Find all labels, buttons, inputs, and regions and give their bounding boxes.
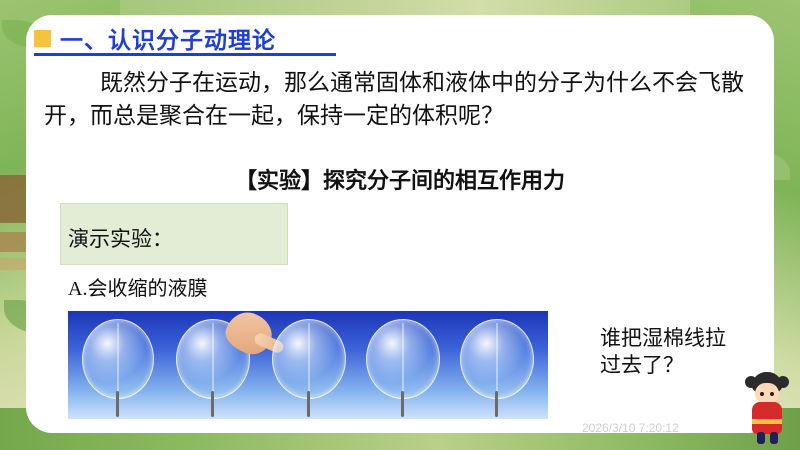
background-top-strip — [0, 0, 800, 16]
liquid-film-image — [68, 311, 548, 419]
mascot-leg-left — [757, 432, 765, 444]
bubble-frame-4 — [366, 319, 440, 399]
bubble-frame-3 — [272, 319, 346, 399]
body-paragraph: 既然分子在运动，那么通常固体和液体中的分子为什么不会飞散开，而总是聚合在一起，保… — [44, 67, 756, 132]
mascot-eye-left — [760, 392, 764, 396]
mascot-character — [744, 372, 792, 446]
heading-text: 一、认识分子动理论 — [60, 21, 276, 55]
side-question-text: 谁把湿棉线拉过去了？ — [600, 325, 740, 379]
bubble-handle-3 — [307, 391, 310, 417]
mascot-belt — [752, 419, 782, 424]
bubble-handle-1 — [116, 391, 119, 417]
mascot-face — [755, 383, 779, 404]
mascot-eye-right — [770, 392, 774, 396]
timestamp-watermark: 2026/3/10 7:20:12 — [582, 421, 679, 435]
mascot-leg-right — [770, 432, 778, 444]
bubble-handle-4 — [401, 391, 404, 417]
bubble-frame-5 — [460, 319, 534, 399]
section-heading: 一、认识分子动理论 — [34, 21, 276, 55]
heading-bullet-square — [34, 30, 51, 47]
bubble-handle-5 — [495, 391, 498, 417]
mascot-body — [752, 402, 782, 434]
bubble-frame-1 — [82, 319, 154, 399]
slide-content-card: 一、认识分子动理论 既然分子在运动，那么通常固体和液体中的分子为什么不会飞散开，… — [26, 15, 774, 433]
demo-label-text: 演示实验： — [68, 223, 173, 253]
item-a-text: A.会收缩的液膜 — [68, 272, 207, 301]
heading-underline — [34, 53, 336, 56]
experiment-title: 【实验】探究分子间的相互作用力 — [26, 163, 774, 195]
bubble-handle-2 — [211, 391, 214, 417]
